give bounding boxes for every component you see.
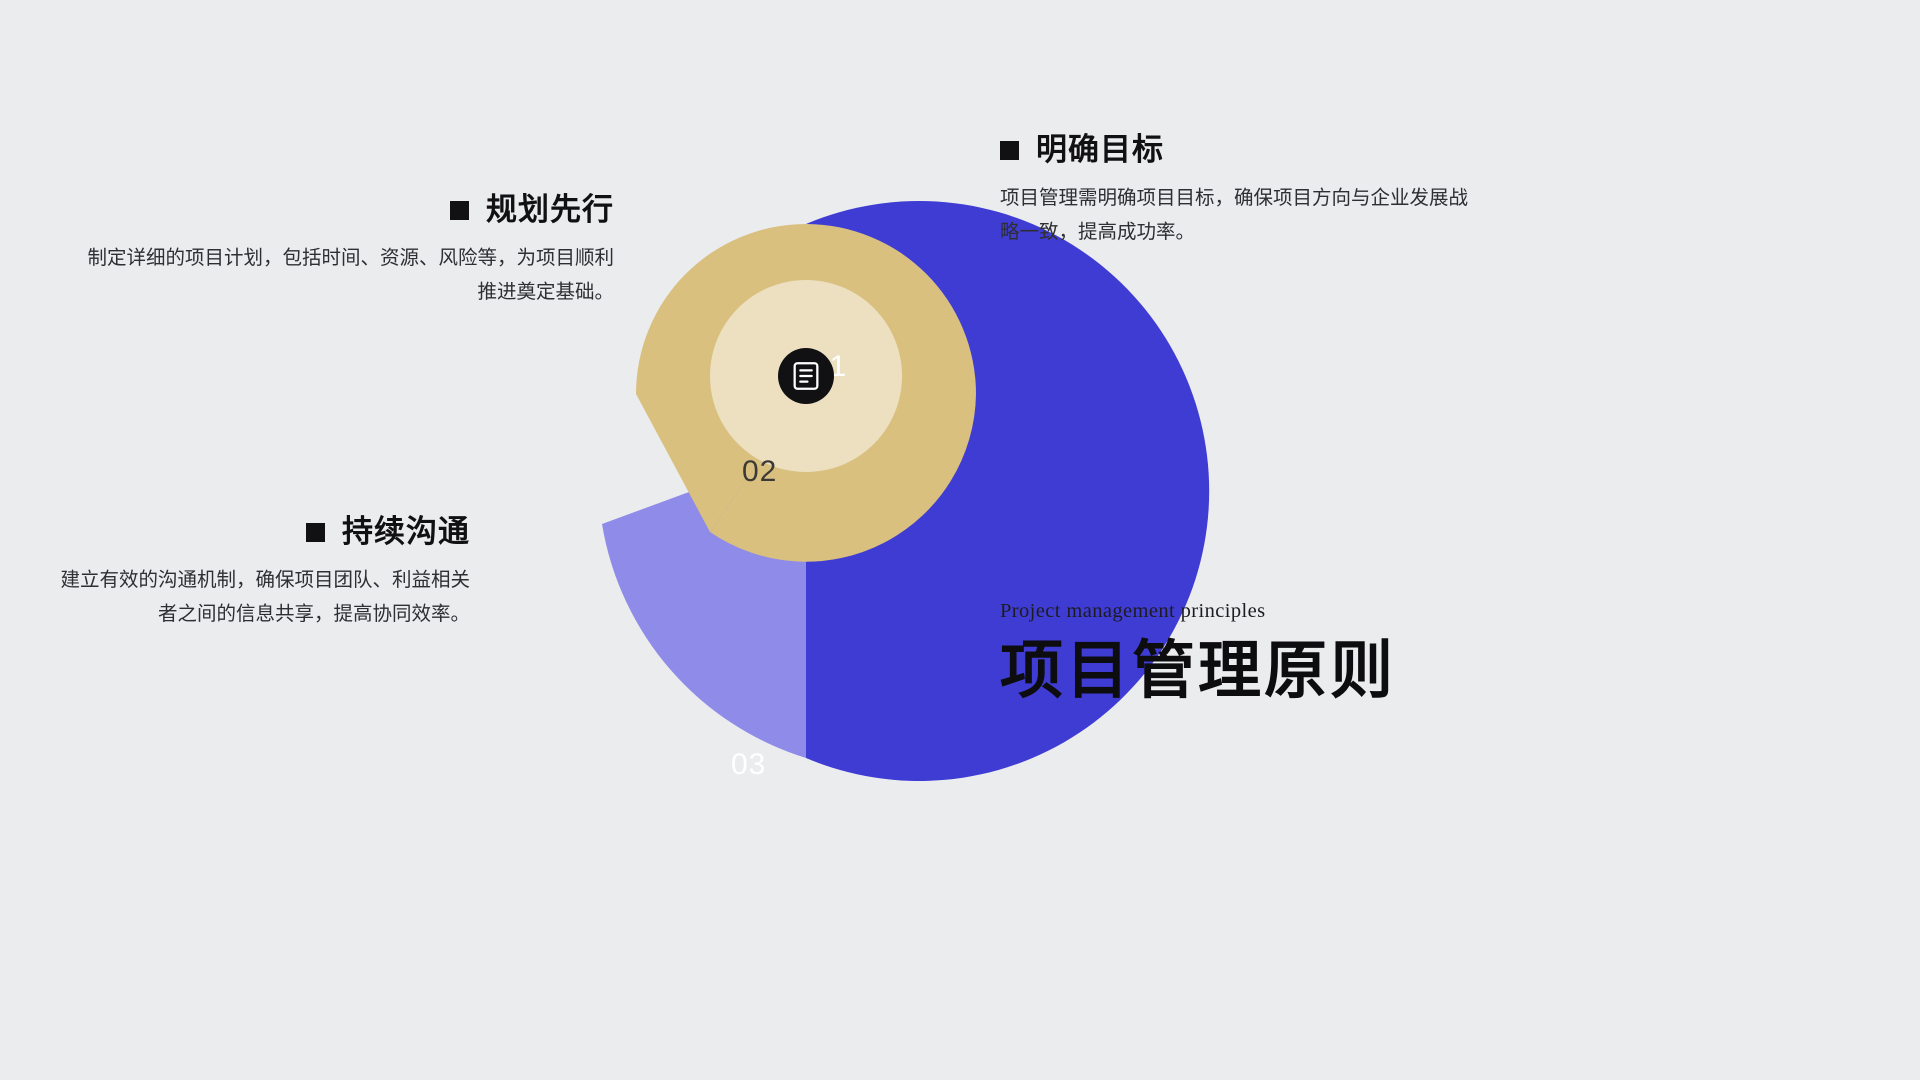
square-bullet-icon: [450, 201, 469, 220]
block-03-heading-row: 持续沟通: [60, 515, 470, 549]
radial-wedge-diagram: 01 02 03: [590, 150, 1280, 840]
page-title: 项目管理原则: [1000, 637, 1560, 705]
content-block-03: 持续沟通 建立有效的沟通机制，确保项目团队、利益相关者之间的信息共享，提高协同效…: [60, 515, 470, 631]
block-02-heading: 规划先行: [486, 193, 614, 227]
list-document-icon: [778, 348, 834, 404]
subtitle-english: Project management principles: [1000, 600, 1560, 623]
block-01-heading: 明确目标: [1036, 133, 1164, 167]
block-01-heading-row: 明确目标: [1000, 133, 1480, 167]
wedge-number-02: 02: [742, 455, 777, 489]
title-area: Project management principles 项目管理原则: [1000, 600, 1560, 705]
content-block-01: 明确目标 项目管理需明确项目目标，确保项目方向与企业发展战略一致，提高成功率。: [1000, 133, 1480, 249]
block-03-body: 建立有效的沟通机制，确保项目团队、利益相关者之间的信息共享，提高协同效率。: [60, 564, 470, 631]
slide-canvas: 01 02 03 明确目标 项目管理需明确项目目标，确保项目方向与企业发展战略一…: [0, 0, 1920, 1080]
block-03-heading: 持续沟通: [342, 515, 470, 549]
square-bullet-icon: [306, 523, 325, 542]
block-01-body: 项目管理需明确项目目标，确保项目方向与企业发展战略一致，提高成功率。: [1000, 182, 1480, 249]
wedge-number-03: 03: [731, 748, 766, 782]
square-bullet-icon: [1000, 141, 1019, 160]
content-block-02: 规划先行 制定详细的项目计划，包括时间、资源、风险等，为项目顺利推进奠定基础。: [80, 193, 614, 309]
block-02-heading-row: 规划先行: [80, 193, 614, 227]
block-02-body: 制定详细的项目计划，包括时间、资源、风险等，为项目顺利推进奠定基础。: [80, 242, 614, 309]
